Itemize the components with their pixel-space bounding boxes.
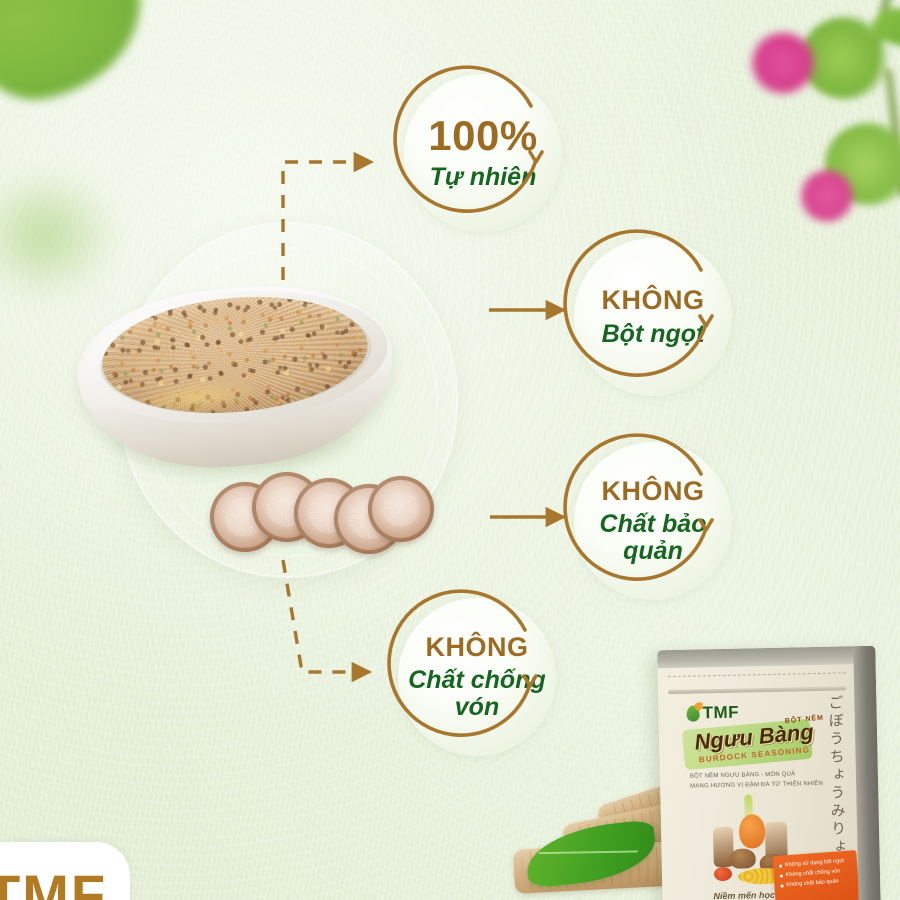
badge-no-msg[interactable]: KHÔNG Bột ngọt — [574, 238, 732, 396]
badge-headline: KHÔNG — [602, 287, 705, 314]
product-package[interactable]: TMF BỘT NÊM Ngưu Bàng BURDOCK SEASONING … — [657, 646, 880, 900]
poster-canvas: 100% Tự nhiên KHÔNG Bột ngọt KHÔNG Chất … — [0, 0, 900, 900]
root-slice — [368, 476, 434, 542]
carrot-icon — [739, 814, 766, 849]
badge-no-preservative[interactable]: KHÔNG Chất bảo quản — [574, 442, 732, 600]
badge-subline: Tự nhiên — [430, 164, 537, 190]
package-side-gusset — [853, 646, 880, 900]
bullet-icon — [780, 884, 783, 887]
package-brand-logo: TMF — [686, 703, 739, 724]
package-tagline-line2: MANG HƯƠNG VỊ ĐẬM ĐÀ TỪ THIÊN NHIÊN — [690, 779, 826, 792]
thistle-bloom — [746, 30, 820, 96]
package-tagline: BỘT NÊM NGƯU BÀNG - MÓN QUÀ MANG HƯƠNG V… — [690, 769, 826, 792]
package-zip-line — [668, 672, 846, 677]
bullet-icon — [779, 864, 782, 867]
leaf-glow-left — [0, 170, 120, 300]
badge-no-anticaking[interactable]: KHÔNG Chất chống vón — [398, 598, 556, 756]
tomato-icon — [714, 867, 732, 881]
leaf-drop-icon — [686, 705, 699, 721]
badge-headline: 100% — [428, 115, 537, 157]
badge-subline: Chất chống vón — [398, 667, 556, 720]
package-zip-strip — [668, 686, 846, 694]
package-body: TMF BỘT NÊM Ngưu Bàng BURDOCK SEASONING … — [657, 646, 880, 900]
badge-headline: KHÔNG — [602, 478, 705, 505]
badge-ring-arc — [568, 232, 738, 402]
package-brand-logo-text: TMF — [702, 703, 739, 724]
bullet-icon — [780, 874, 783, 877]
leaf-icon-top-left — [0, 0, 158, 114]
package-top-seal — [657, 646, 875, 669]
badge-100-percent-natural[interactable]: 100% Tự nhiên — [404, 74, 562, 232]
mushroom-icon — [729, 848, 755, 869]
badge-subline: Chất bảo quản — [574, 511, 732, 564]
seasoning-powder — [98, 287, 373, 424]
seasoning-bowl — [78, 288, 394, 484]
badge-subline: Bột ngọt — [602, 321, 705, 347]
package-claims-label: Không sử dụng bột ngọt Không chất chống … — [772, 850, 860, 900]
corner-brand-text: TMF — [0, 862, 107, 900]
burdock-flower-icon-top-right — [732, 0, 900, 202]
thistle-bloom — [796, 168, 858, 224]
burdock-root-slices — [210, 470, 432, 556]
badge-headline: KHÔNG — [426, 634, 529, 661]
